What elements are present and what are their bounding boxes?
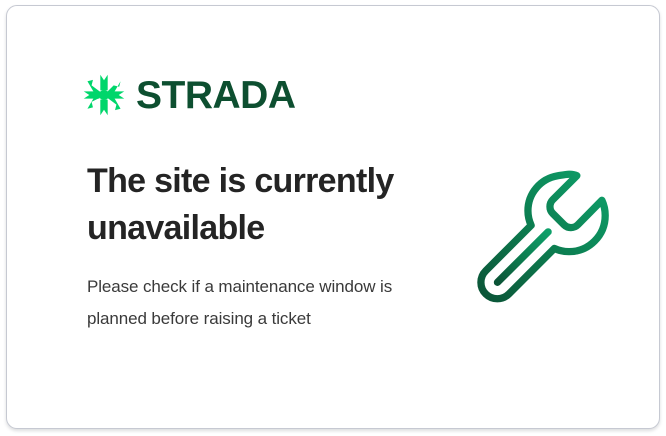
status-card: STRADA The site is currently unavailable… xyxy=(6,5,660,429)
page-description: Please check if a maintenance window is … xyxy=(87,271,407,335)
asterisk-star-icon xyxy=(81,72,127,118)
error-page: STRADA The site is currently unavailable… xyxy=(0,0,666,436)
brand-lockup: STRADA xyxy=(81,72,296,118)
page-title: The site is currently unavailable xyxy=(87,158,427,252)
wrench-icon xyxy=(460,154,625,319)
brand-wordmark: STRADA xyxy=(136,76,296,115)
